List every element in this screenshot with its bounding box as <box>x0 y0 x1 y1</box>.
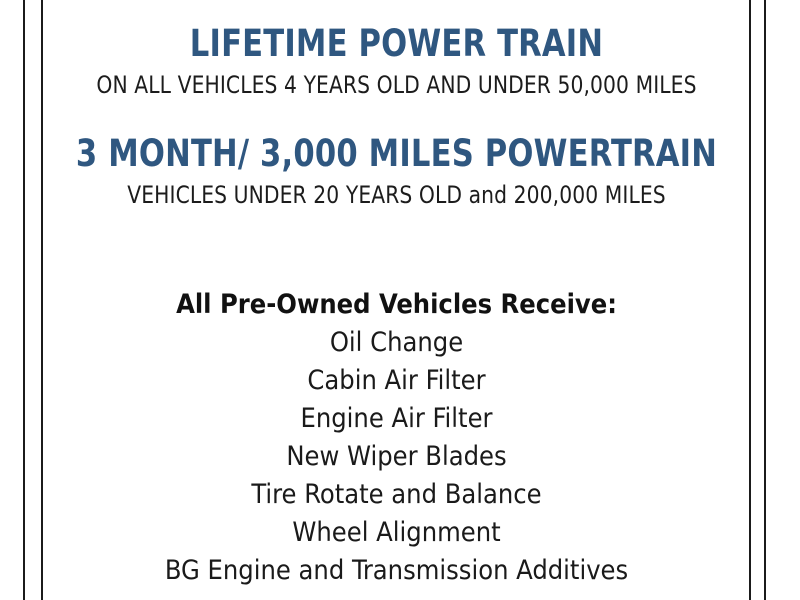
list-item: New Wiper Blades <box>45 438 748 476</box>
border-rule-left-inner <box>41 0 43 600</box>
list-item: Engine Air Filter <box>45 400 748 438</box>
list-item: BG Engine and Transmission Additives <box>45 552 748 590</box>
warranty-title-3-month-powertrain: 3 MONTH/ 3,000 MILES POWERTRAIN <box>73 132 720 176</box>
warranty-subtitle-3-month-powertrain: VEHICLES UNDER 20 YEARS OLD and 200,000 … <box>66 180 727 210</box>
warranty-offer-lifetime-powertrain: LIFETIME POWER TRAIN ON ALL VEHICLES 4 Y… <box>45 0 748 100</box>
warranty-subtitle-lifetime-powertrain: ON ALL VEHICLES 4 YEARS OLD AND UNDER 50… <box>66 70 727 100</box>
flyer-page: LIFETIME POWER TRAIN ON ALL VEHICLES 4 Y… <box>0 0 800 600</box>
included-services-section: All Pre-Owned Vehicles Receive: Oil Chan… <box>45 286 748 590</box>
warranty-offer-3-month-powertrain: 3 MONTH/ 3,000 MILES POWERTRAIN VEHICLES… <box>45 100 748 210</box>
flyer-content: LIFETIME POWER TRAIN ON ALL VEHICLES 4 Y… <box>45 0 748 600</box>
list-item: Oil Change <box>45 324 748 362</box>
included-services-list: Oil Change Cabin Air Filter Engine Air F… <box>45 324 748 590</box>
border-rule-right-inner <box>749 0 751 600</box>
list-item: Tire Rotate and Balance <box>45 476 748 514</box>
included-services-heading: All Pre-Owned Vehicles Receive: <box>45 286 748 324</box>
border-rule-right-outer <box>764 0 766 600</box>
list-item: Wheel Alignment <box>45 514 748 552</box>
list-item: Cabin Air Filter <box>45 362 748 400</box>
warranty-title-lifetime-powertrain: LIFETIME POWER TRAIN <box>73 22 720 66</box>
border-rule-left-outer <box>23 0 25 600</box>
